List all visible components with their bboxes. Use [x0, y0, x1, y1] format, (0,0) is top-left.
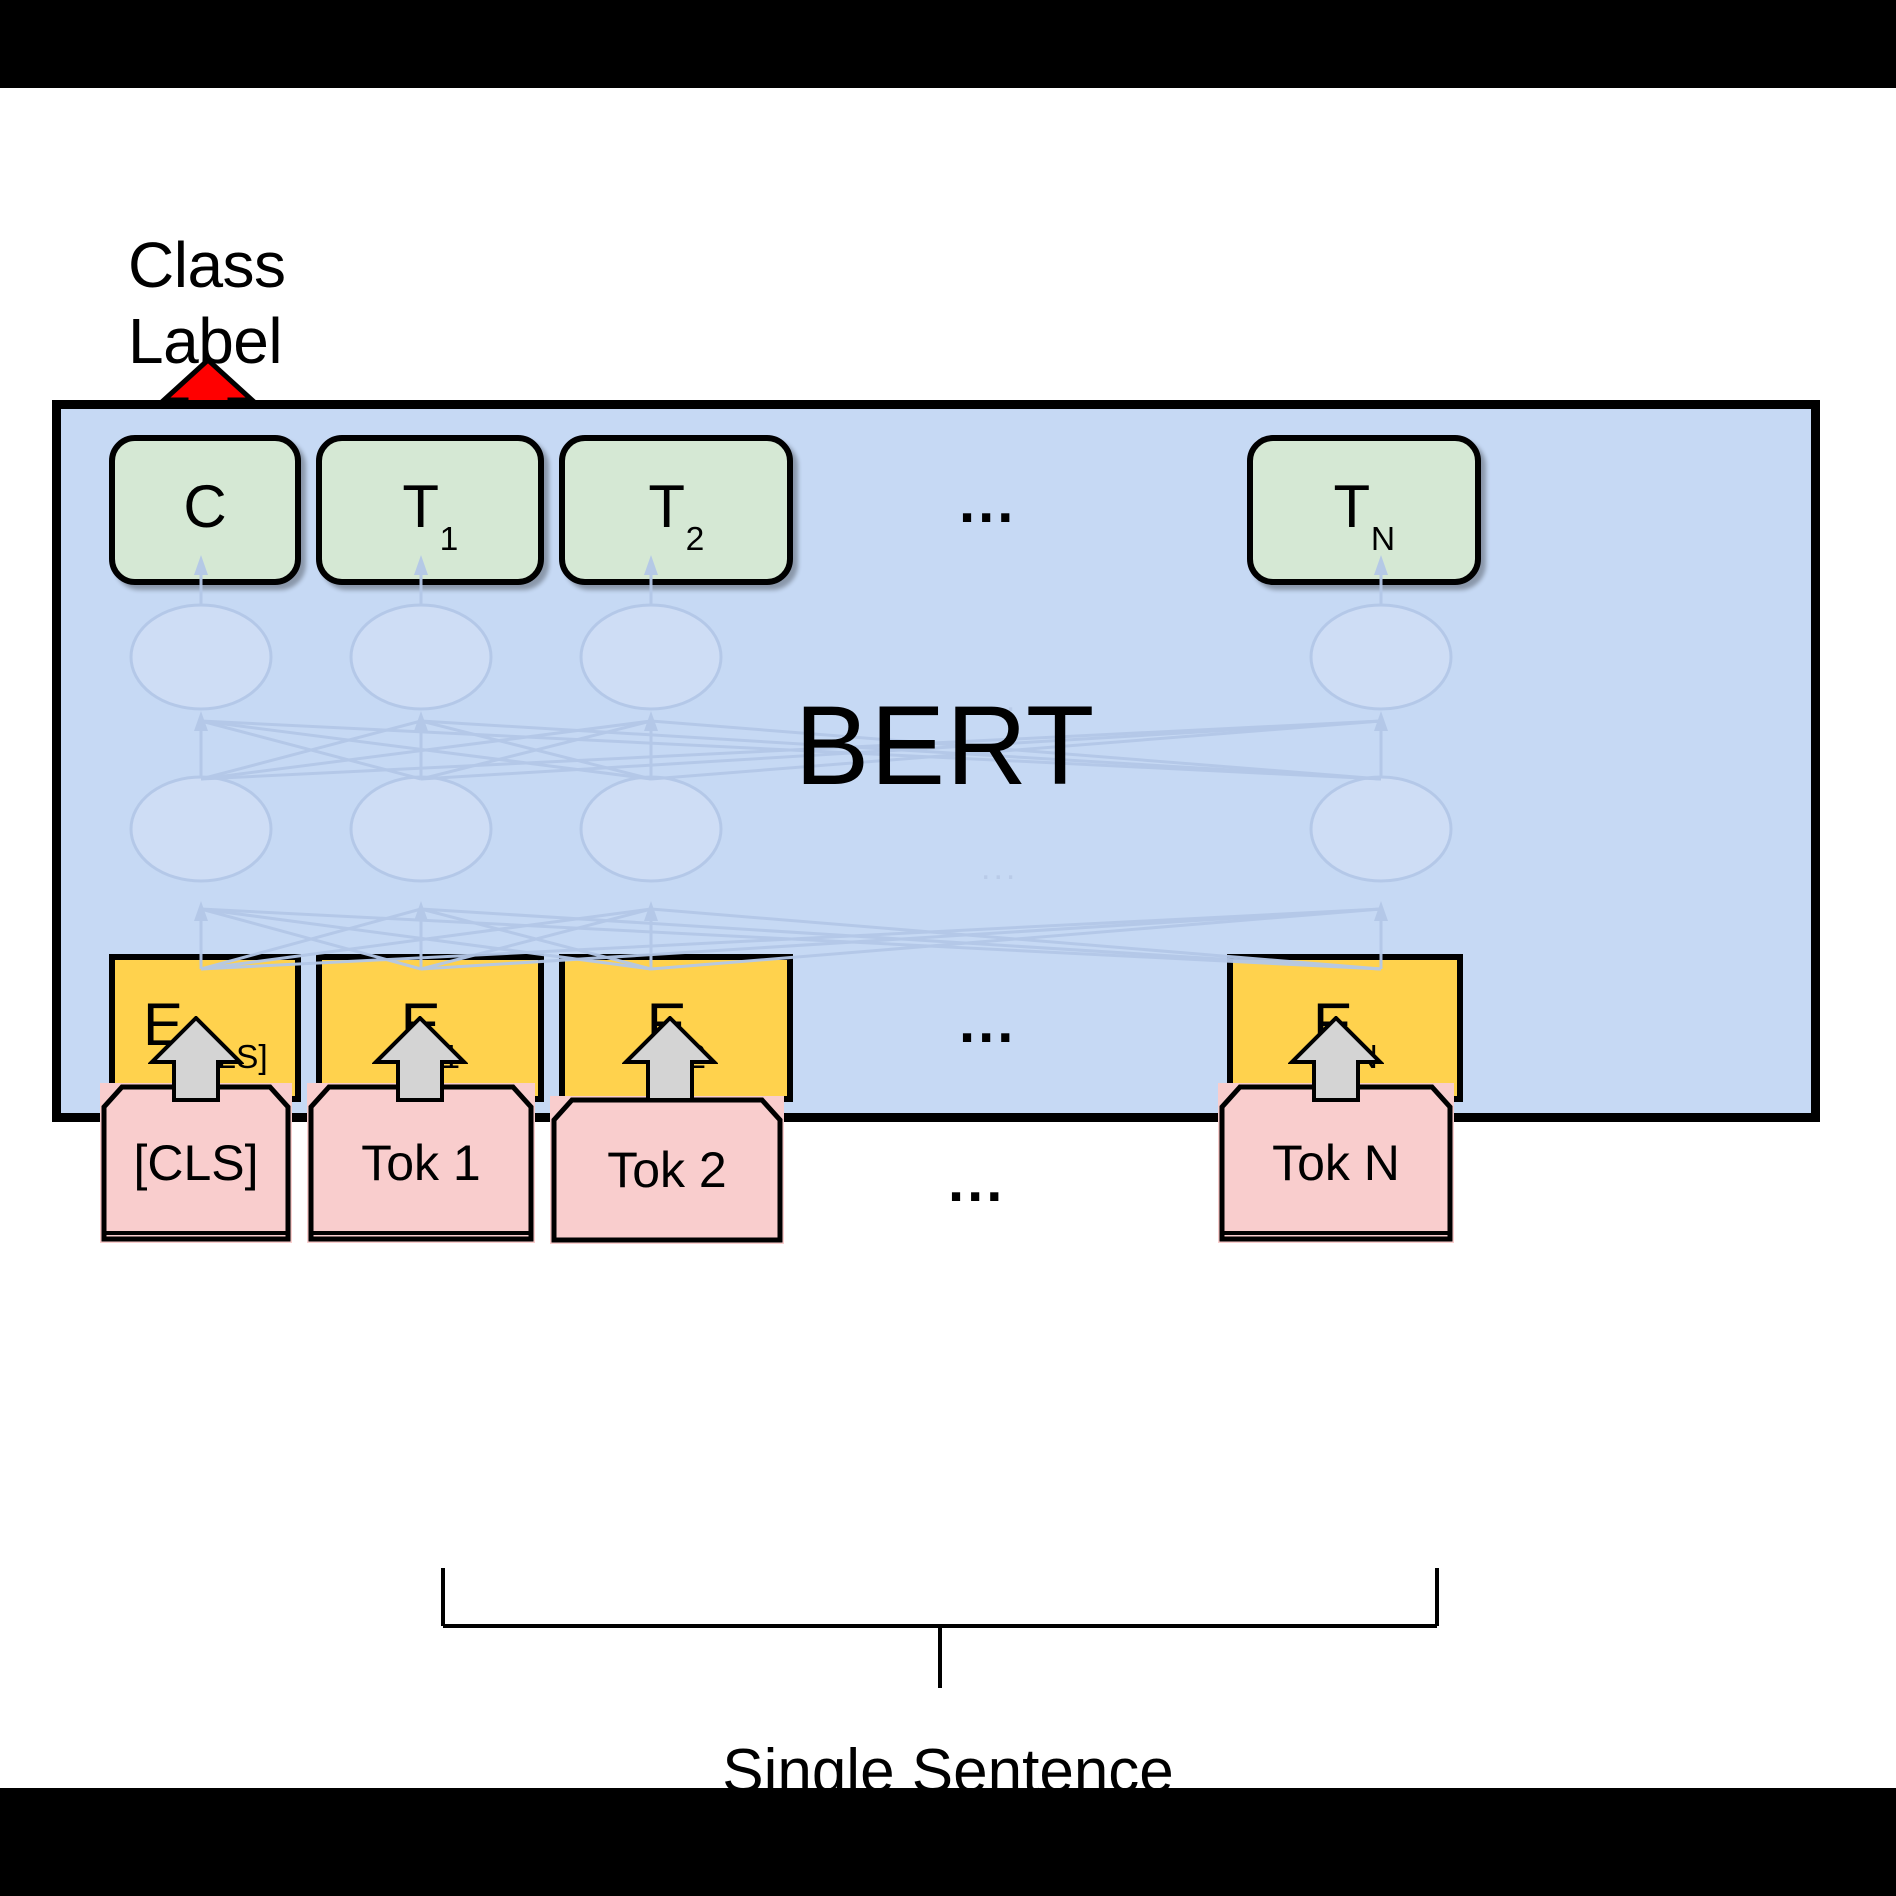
internal-ellipsis-upper: ... [981, 681, 1018, 720]
class-label-text: Class Label [128, 228, 286, 379]
sentence-caption-text: Single Sentence [0, 1736, 1896, 1807]
token-box-tok2-label: Tok 2 [607, 1141, 727, 1199]
internal-ellipsis-lower: ... [981, 849, 1018, 888]
gray-up-arrow-icon-cls [148, 1016, 244, 1102]
token-row-ellipsis: ... [948, 1148, 1005, 1215]
gray-up-arrow-icon-tok1 [372, 1016, 468, 1102]
transformer-internals-graphic [61, 409, 1820, 1121]
token-box-tokn-label: Tok N [1272, 1134, 1400, 1192]
diagram-page: Class Label [0, 88, 1896, 1788]
bert-container: ... ... BERT C T1 T2 [52, 400, 1820, 1122]
output-row-ellipsis: ... [959, 469, 1016, 536]
token-box-cls-label: [CLS] [133, 1134, 258, 1192]
token-box-tok2[interactable]: Tok 2 [550, 1096, 784, 1244]
gray-up-arrow-icon-tokn [1288, 1016, 1384, 1102]
gray-up-arrow-icon-tok2 [622, 1016, 718, 1102]
diagram-canvas: Class Label [0, 0, 1896, 1896]
embedding-row-ellipsis: ... [959, 989, 1016, 1056]
token-box-tok1-label: Tok 1 [361, 1134, 481, 1192]
sentence-bracket [440, 1568, 1440, 1688]
